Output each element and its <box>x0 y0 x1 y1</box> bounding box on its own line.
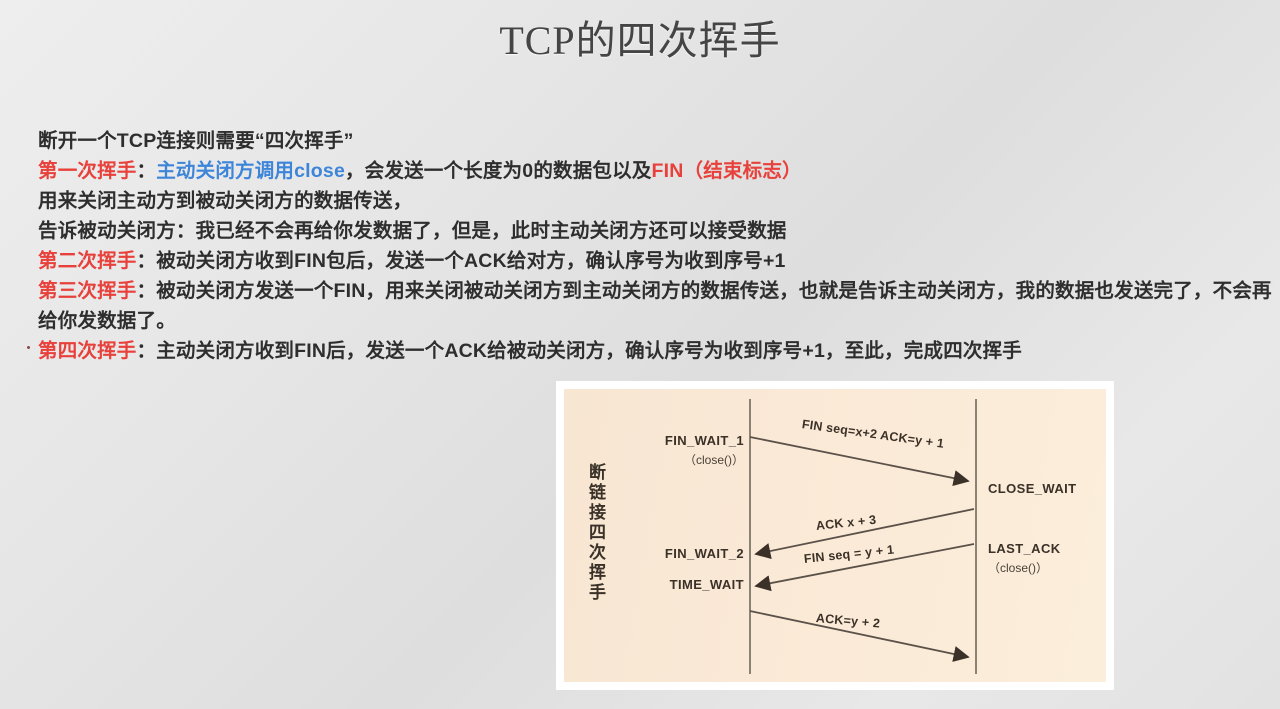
state-fin-wait-1-sub: （close()） <box>626 451 744 468</box>
body-line-5: 第二次挥手：被动关闭方收到FIN包后，发送一个ACK给对方，确认序号为收到序号+… <box>38 246 1273 276</box>
body-line-2-blue: 主动关闭方调用close <box>156 160 345 182</box>
client-lifeline <box>749 399 751 674</box>
state-time-wait-name: TIME_WAIT <box>670 577 744 592</box>
message-label-3: FIN seq = y + 1 <box>803 543 895 566</box>
message-label-1: FIN seq=x+2 ACK=y + 1 <box>801 417 945 451</box>
slide-canvas: TCP的四次挥手 断开一个TCP连接则需要“四次挥手” 第一次挥手：主动关闭方调… <box>0 0 1280 709</box>
body-line-6: 第三次挥手：被动关闭方发送一个FIN，用来关闭被动关闭方到主动关闭方的数据传送，… <box>38 276 1273 336</box>
body-line-6-text: ：被动关闭方发送一个FIN，用来关闭被动关闭方到主动关闭方的数据传送，也就是告诉… <box>38 280 1272 332</box>
body-line-1: 断开一个TCP连接则需要“四次挥手” <box>38 126 1273 156</box>
state-fin-wait-2-name: FIN_WAIT_2 <box>665 546 744 561</box>
handshake-label-2: 第二次挥手 <box>38 250 137 272</box>
body-line-4: 告诉被动关闭方：我已经不会再给你发数据了，但是，此时主动关闭方还可以接受数据 <box>38 216 1273 246</box>
body-line-2-fin: FIN（结束标志） <box>652 160 802 182</box>
state-close-wait-name: CLOSE_WAIT <box>988 481 1077 496</box>
message-label-2: ACK x + 3 <box>815 513 877 533</box>
body-line-2-mid: ，会发送一个长度为0的数据包以及 <box>345 160 652 182</box>
tcp-four-way-handshake-diagram: 断链接四次挥手 FIN seq=x+2 ACK=y + 1 AC <box>556 381 1114 690</box>
message-label-4: ACK=y + 2 <box>815 611 880 631</box>
diagram-canvas: 断链接四次挥手 FIN seq=x+2 ACK=y + 1 AC <box>564 389 1106 682</box>
handshake-label-4: 第四次挥手 <box>38 340 137 362</box>
body-line-2: 第一次挥手：主动关闭方调用close，会发送一个长度为0的数据包以及FIN（结束… <box>38 156 1273 186</box>
body-line-3: 用来关闭主动方到被动关闭方的数据传送， <box>38 186 1273 216</box>
state-time-wait: TIME_WAIT <box>626 577 744 592</box>
body-line-7: 第四次挥手：主动关闭方收到FIN后，发送一个ACK给被动关闭方，确认序号为收到序… <box>38 336 1273 366</box>
body-line-5-text: ：被动关闭方收到FIN包后，发送一个ACK给对方，确认序号为收到序号+1 <box>137 250 786 272</box>
page-title: TCP的四次挥手 <box>0 8 1280 66</box>
body-line-7-text: ：主动关闭方收到FIN后，发送一个ACK给被动关闭方，确认序号为收到序号+1，至… <box>137 340 1023 362</box>
state-last-ack-sub: （close()） <box>988 559 1061 576</box>
state-fin-wait-1-name: FIN_WAIT_1 <box>665 433 744 448</box>
body-line-2-colon: ： <box>137 160 157 182</box>
state-fin-wait-2: FIN_WAIT_2 <box>626 546 744 561</box>
handshake-label-3: 第三次挥手 <box>38 280 137 302</box>
state-close-wait: CLOSE_WAIT <box>988 481 1077 496</box>
handshake-label-1: 第一次挥手 <box>38 160 137 182</box>
server-lifeline <box>975 399 977 674</box>
state-fin-wait-1: FIN_WAIT_1 （close()） <box>626 433 744 468</box>
diagram-vertical-caption: 断链接四次挥手 <box>582 413 608 653</box>
state-last-ack-name: LAST_ACK <box>988 541 1061 556</box>
slide-body-text: 断开一个TCP连接则需要“四次挥手” 第一次挥手：主动关闭方调用close，会发… <box>38 126 1273 366</box>
state-last-ack: LAST_ACK （close()） <box>988 541 1061 576</box>
bullet-dot-icon <box>27 346 30 349</box>
